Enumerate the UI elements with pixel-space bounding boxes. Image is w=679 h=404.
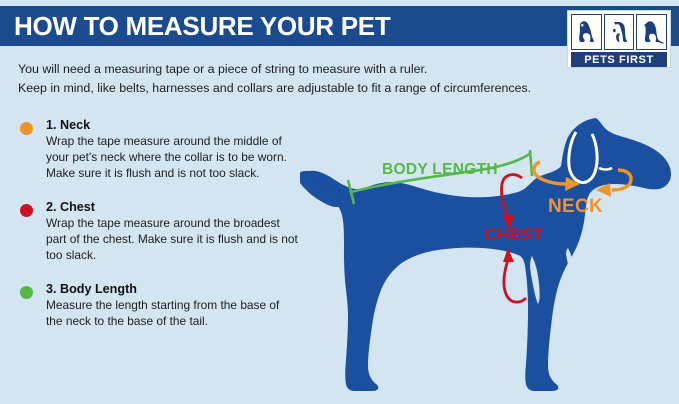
- label-neck: NECK: [548, 196, 603, 217]
- step-text-chest: Wrap the tape measure around the broades…: [46, 215, 298, 263]
- label-body-length: BODY LENGTH: [382, 161, 498, 178]
- dog-sitting-icon: [571, 14, 602, 50]
- step-text-body-length: Measure the length starting from the bas…: [46, 297, 298, 329]
- list-item: 3. Body Length Measure the length starti…: [18, 282, 298, 329]
- step-title-chest: 2. Chest: [46, 200, 298, 214]
- step-text-neck: Wrap the tape measure around the middle …: [46, 133, 298, 181]
- steps-list: 1. Neck Wrap the tape measure around the…: [18, 118, 298, 349]
- intro-line-1: You will need a measuring tape or a piec…: [18, 60, 598, 79]
- dog-diagram: BODY LENGTH NECK CHEST: [300, 108, 679, 404]
- list-item: 2. Chest Wrap the tape measure around th…: [18, 200, 298, 263]
- step-body: 3. Body Length Measure the length starti…: [18, 282, 298, 329]
- how-to-measure-pet-poster: HOW TO MEASURE YOUR PET PETS FIRST: [0, 0, 679, 404]
- step-title-neck: 1. Neck: [46, 118, 298, 132]
- dog-begging-icon: [604, 14, 635, 50]
- dog-silhouette-icon: [300, 118, 671, 391]
- page-title: HOW TO MEASURE YOUR PET: [14, 11, 390, 42]
- dog-alert-icon: [636, 14, 667, 50]
- step-body: 1. Neck Wrap the tape measure around the…: [18, 118, 298, 181]
- label-chest: CHEST: [484, 225, 543, 244]
- bullet-neck-icon: [20, 122, 33, 135]
- chest-arc-lower: [504, 260, 526, 302]
- step-body: 2. Chest Wrap the tape measure around th…: [18, 200, 298, 263]
- logo-frames: [571, 14, 667, 50]
- step-title-body-length: 3. Body Length: [46, 282, 298, 296]
- list-item: 1. Neck Wrap the tape measure around the…: [18, 118, 298, 181]
- intro-text: You will need a measuring tape or a piec…: [18, 60, 598, 98]
- intro-line-2: Keep in mind, like belts, harnesses and …: [18, 79, 598, 98]
